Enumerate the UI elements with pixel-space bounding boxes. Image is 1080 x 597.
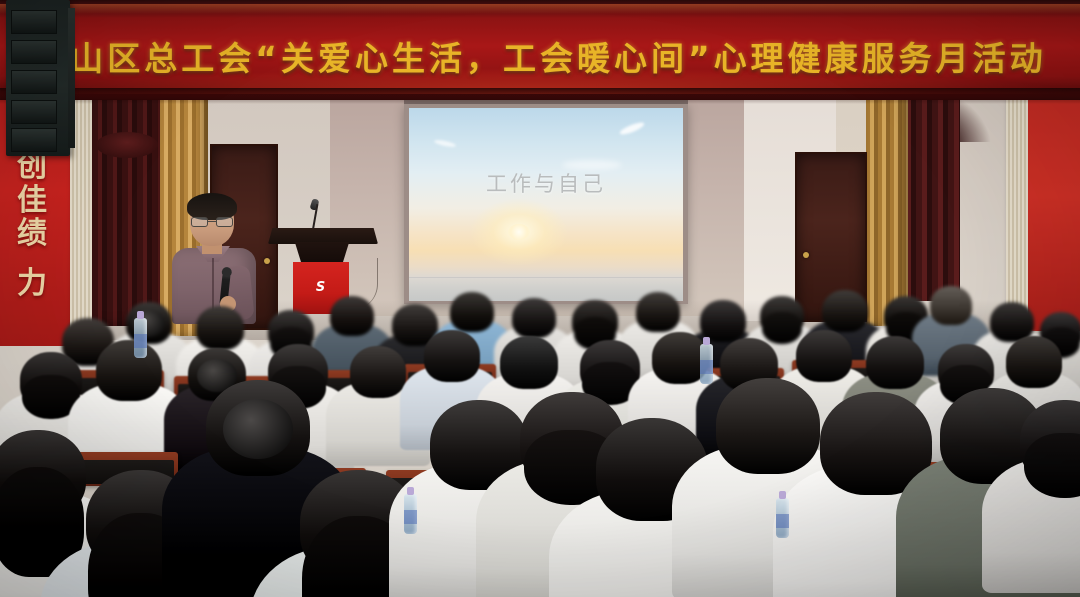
- lecture-hall-photo: 创 佳 绩 力 工作与自己 S: [0, 0, 1080, 597]
- water-bottles: [0, 0, 1080, 597]
- water-bottle: [134, 318, 147, 358]
- water-bottle: [776, 498, 789, 538]
- bottle-label: [134, 334, 147, 348]
- bottle-label: [700, 360, 713, 374]
- water-bottle: [700, 344, 713, 384]
- water-bottle: [404, 494, 417, 534]
- bottle-label: [776, 514, 789, 528]
- bottle-label: [404, 510, 417, 524]
